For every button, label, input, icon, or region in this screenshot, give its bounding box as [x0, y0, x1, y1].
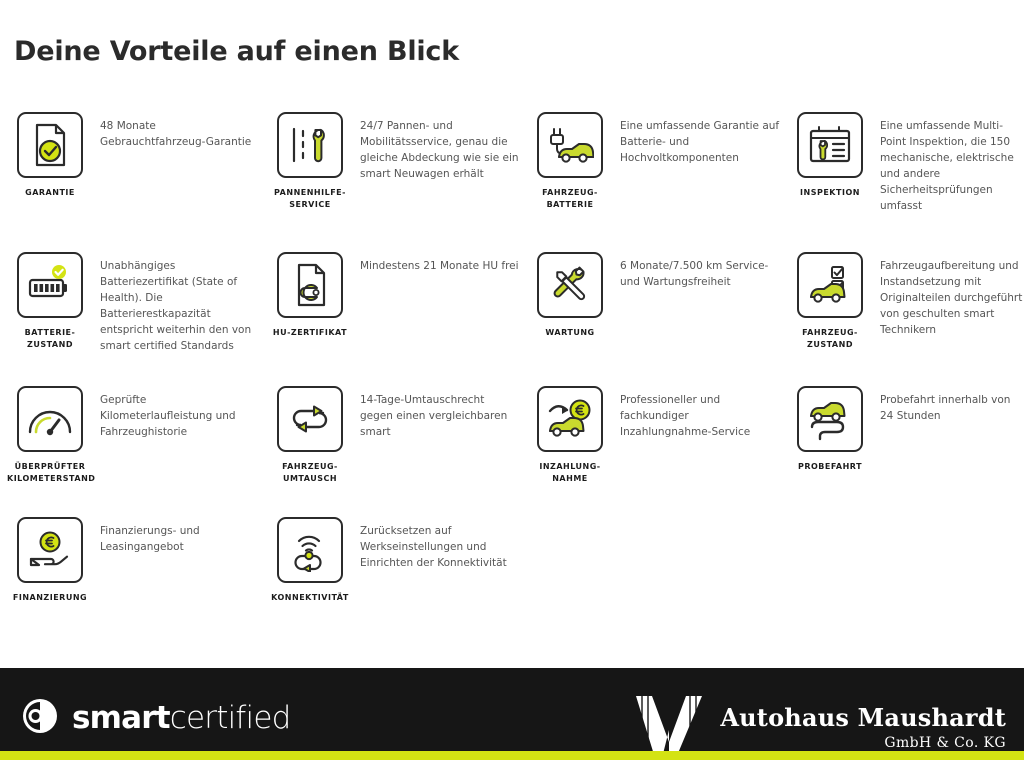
- icon-column: KONNEKTIVITÄT: [274, 517, 346, 604]
- benefit-item-empty: [780, 517, 1024, 637]
- icon-label: PROBEFAHRT: [787, 461, 873, 473]
- icon-label: FINANZIERUNG: [7, 592, 93, 604]
- benefit-text: Geprüfte Kilometerlaufleistung und Fahrz…: [86, 386, 260, 440]
- icon-label: WARTUNG: [527, 327, 613, 339]
- icon-column: FAHRZEUG-UMTAUSCH: [274, 386, 346, 485]
- icon-label: ÜBERPRÜFTER KILOMETERSTAND: [7, 461, 93, 485]
- icon-label: INZAHLUNG-NAHME: [527, 461, 613, 485]
- icon-label: BATTERIE-ZUSTAND: [7, 327, 93, 351]
- benefit-text: Probefahrt innerhalb von 24 Stunden: [866, 386, 1024, 424]
- benefit-item-finanzierung[interactable]: FINANZIERUNG Finanzierungs- und Leasinga…: [0, 517, 260, 637]
- benefit-item-empty: [520, 517, 780, 637]
- icon-column: FAHRZEUG-ZUSTAND: [794, 252, 866, 351]
- benefit-row: FINANZIERUNG Finanzierungs- und Leasinga…: [0, 517, 1024, 637]
- benefit-item-pannenhilfe-service[interactable]: PANNENHILFE-SERVICE 24/7 Pannen- und Mob…: [260, 112, 520, 252]
- icon-column: INSPEKTION: [794, 112, 866, 199]
- dealer-brand: Autohaus Maushardt GmbH & Co. KG: [632, 690, 1006, 760]
- benefit-item-hu-zertifikat[interactable]: HU-ZERTIFIKAT Mindestens 21 Monate HU fr…: [260, 252, 520, 386]
- dealer-legal-form: GmbH & Co. KG: [720, 733, 1006, 753]
- brand-name-light: certified: [170, 700, 291, 736]
- benefit-item-inzahlungnahme[interactable]: INZAHLUNG-NAHME Professioneller und fach…: [520, 386, 780, 517]
- benefit-row: GARANTIE 48 Monate Gebrauchtfahrzeug-Gar…: [0, 112, 1024, 252]
- benefit-item-fahrzeug-batterie[interactable]: FAHRZEUG-BATTERIE Eine umfassende Garant…: [520, 112, 780, 252]
- icon-column: FAHRZEUG-BATTERIE: [534, 112, 606, 211]
- benefit-item-ueberpruefter-kilometerstand[interactable]: ÜBERPRÜFTER KILOMETERSTAND Geprüfte Kilo…: [0, 386, 260, 517]
- document-wrench-icon: [277, 252, 343, 318]
- icon-column: WARTUNG: [534, 252, 606, 339]
- benefit-text: 24/7 Pannen- und Mobilitätsservice, gena…: [346, 112, 520, 182]
- benefit-text: Fahrzeugaufbereitung und Instandsetzung …: [866, 252, 1024, 338]
- icon-column: INZAHLUNG-NAHME: [534, 386, 606, 485]
- dealer-name: Autohaus Maushardt: [720, 704, 1006, 732]
- footer-accent-bar: [0, 751, 1024, 760]
- brand-name-bold: smart: [72, 700, 170, 736]
- benefit-text: Finanzierungs- und Leasingangebot: [86, 517, 260, 555]
- icon-column: FINANZIERUNG: [14, 517, 86, 604]
- exchange-arrows-icon: [277, 386, 343, 452]
- benefit-item-fahrzeug-umtausch[interactable]: FAHRZEUG-UMTAUSCH 14-Tage-Umtauschrecht …: [260, 386, 520, 517]
- icon-column: HU-ZERTIFIKAT: [274, 252, 346, 339]
- smart-certified-brand: smartcertified: [20, 696, 291, 740]
- icon-label: FAHRZEUG-BATTERIE: [527, 187, 613, 211]
- speedometer-icon: [17, 386, 83, 452]
- smart-certified-wordmark: smartcertified: [72, 701, 291, 735]
- benefit-text: Zurücksetzen auf Werkseinstellungen und …: [346, 517, 520, 571]
- benefit-text: Professioneller und fachkundiger Inzahlu…: [606, 386, 780, 440]
- maushardt-m-logo-icon: [632, 690, 706, 760]
- icon-label: HU-ZERTIFIKAT: [267, 327, 353, 339]
- footer: smartcertified Autohaus Maushardt GmbH &…: [0, 668, 1024, 760]
- car-checkboxes-icon: [797, 252, 863, 318]
- icon-label: INSPEKTION: [787, 187, 873, 199]
- icon-column: PROBEFAHRT: [794, 386, 866, 473]
- benefit-item-garantie[interactable]: GARANTIE 48 Monate Gebrauchtfahrzeug-Gar…: [0, 112, 260, 252]
- car-euro-icon: [537, 386, 603, 452]
- benefit-item-inspektion[interactable]: INSPEKTION Eine umfassende Multi-Point I…: [780, 112, 1024, 252]
- car-plug-icon: [537, 112, 603, 178]
- benefit-text: 48 Monate Gebrauchtfahrzeug-Garantie: [86, 112, 260, 150]
- icon-column: ÜBERPRÜFTER KILOMETERSTAND: [14, 386, 86, 485]
- benefit-row: ÜBERPRÜFTER KILOMETERSTAND Geprüfte Kilo…: [0, 386, 1024, 517]
- benefits-page: Deine Vorteile auf einen Blick GARANTIE: [0, 0, 1024, 760]
- icon-label: GARANTIE: [7, 187, 93, 199]
- road-wrench-icon: [277, 112, 343, 178]
- icon-label: FAHRZEUG-ZUSTAND: [787, 327, 873, 351]
- icon-label: KONNEKTIVITÄT: [267, 592, 353, 604]
- icon-column: PANNENHILFE-SERVICE: [274, 112, 346, 211]
- benefit-text: Eine umfassende Multi-Point Inspektion, …: [866, 112, 1024, 214]
- benefit-item-fahrzeug-zustand[interactable]: FAHRZEUG-ZUSTAND Fahrzeugaufbereitung un…: [780, 252, 1024, 386]
- benefits-grid: GARANTIE 48 Monate Gebrauchtfahrzeug-Gar…: [0, 112, 1024, 637]
- battery-check-icon: [17, 252, 83, 318]
- icon-column: GARANTIE: [14, 112, 86, 199]
- benefit-text: 14-Tage-Umtauschrecht gegen einen vergle…: [346, 386, 520, 440]
- benefit-text: Eine umfassende Garantie auf Batterie- u…: [606, 112, 780, 166]
- car-road-icon: [797, 386, 863, 452]
- smart-logo-icon: [20, 696, 60, 740]
- benefit-text: Mindestens 21 Monate HU frei: [346, 252, 520, 274]
- hand-euro-icon: [17, 517, 83, 583]
- benefit-text: Unabhängiges Batteriezertifikat (State o…: [86, 252, 260, 354]
- document-check-icon: [17, 112, 83, 178]
- icon-label: FAHRZEUG-UMTAUSCH: [267, 461, 353, 485]
- benefit-item-probefahrt[interactable]: PROBEFAHRT Probefahrt innerhalb von 24 S…: [780, 386, 1024, 517]
- icon-column: BATTERIE-ZUSTAND: [14, 252, 86, 351]
- benefit-item-batterie-zustand[interactable]: BATTERIE-ZUSTAND Unabhängiges Batterieze…: [0, 252, 260, 386]
- benefit-item-wartung[interactable]: WARTUNG 6 Monate/7.500 km Service- und W…: [520, 252, 780, 386]
- checklist-wrench-icon: [797, 112, 863, 178]
- benefit-item-konnektivitaet[interactable]: KONNEKTIVITÄT Zurücksetzen auf Werkseins…: [260, 517, 520, 637]
- wrench-screwdriver-icon: [537, 252, 603, 318]
- icon-label: PANNENHILFE-SERVICE: [267, 187, 353, 211]
- benefit-text: 6 Monate/7.500 km Service- und Wartungsf…: [606, 252, 780, 290]
- page-title: Deine Vorteile auf einen Blick: [14, 36, 459, 67]
- dealer-name-block: Autohaus Maushardt GmbH & Co. KG: [720, 704, 1006, 753]
- benefit-row: BATTERIE-ZUSTAND Unabhängiges Batterieze…: [0, 252, 1024, 386]
- connectivity-icon: [277, 517, 343, 583]
